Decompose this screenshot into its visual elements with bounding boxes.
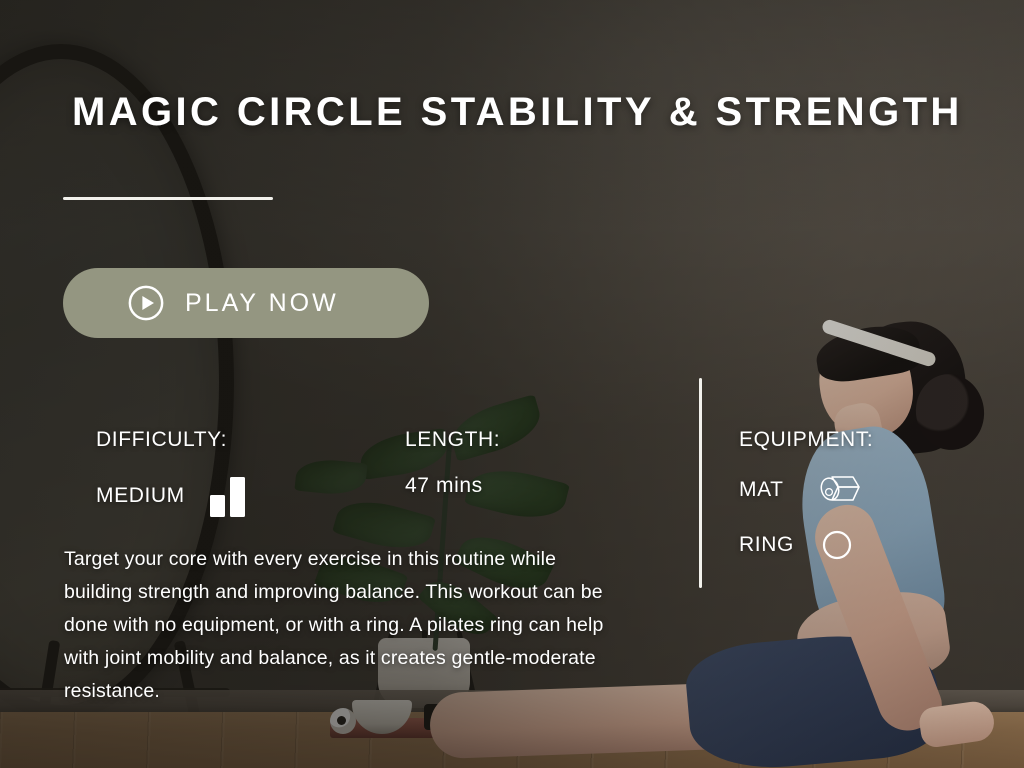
difficulty-label: DIFFICULTY: [96,428,251,452]
ring-circle-icon [820,528,854,562]
title-underline-rule [63,197,273,200]
rolled-mat-icon [819,473,861,507]
length-label: LENGTH: [405,428,500,452]
play-now-button[interactable]: PLAY NOW [63,268,429,338]
play-now-label: PLAY NOW [185,289,339,318]
difficulty-value: MEDIUM [96,484,185,508]
difficulty-bars-icon [207,474,251,518]
equipment-mat-label: MAT [739,478,793,502]
equipment-ring-label: RING [739,533,794,557]
length-stat: LENGTH: 47 mins [405,428,500,498]
equipment-item-mat: MAT [739,473,873,507]
length-row: 47 mins [405,474,500,498]
content-overlay: MAGIC CIRCLE STABILITY & STRENGTH PLAY N… [0,0,1024,768]
page-title: MAGIC CIRCLE STABILITY & STRENGTH [72,90,972,135]
workout-detail-screen: MAGIC CIRCLE STABILITY & STRENGTH PLAY N… [0,0,1024,768]
play-circle-icon [127,284,165,322]
workout-description: Target your core with every exercise in … [64,543,609,708]
equipment-divider [699,378,702,588]
difficulty-stat: DIFFICULTY: MEDIUM [96,428,251,518]
length-value: 47 mins [405,474,483,498]
equipment-section: EQUIPMENT: MAT RING [739,428,873,562]
equipment-label: EQUIPMENT: [739,428,873,452]
equipment-item-ring: RING [739,528,873,562]
difficulty-row: MEDIUM [96,474,251,518]
